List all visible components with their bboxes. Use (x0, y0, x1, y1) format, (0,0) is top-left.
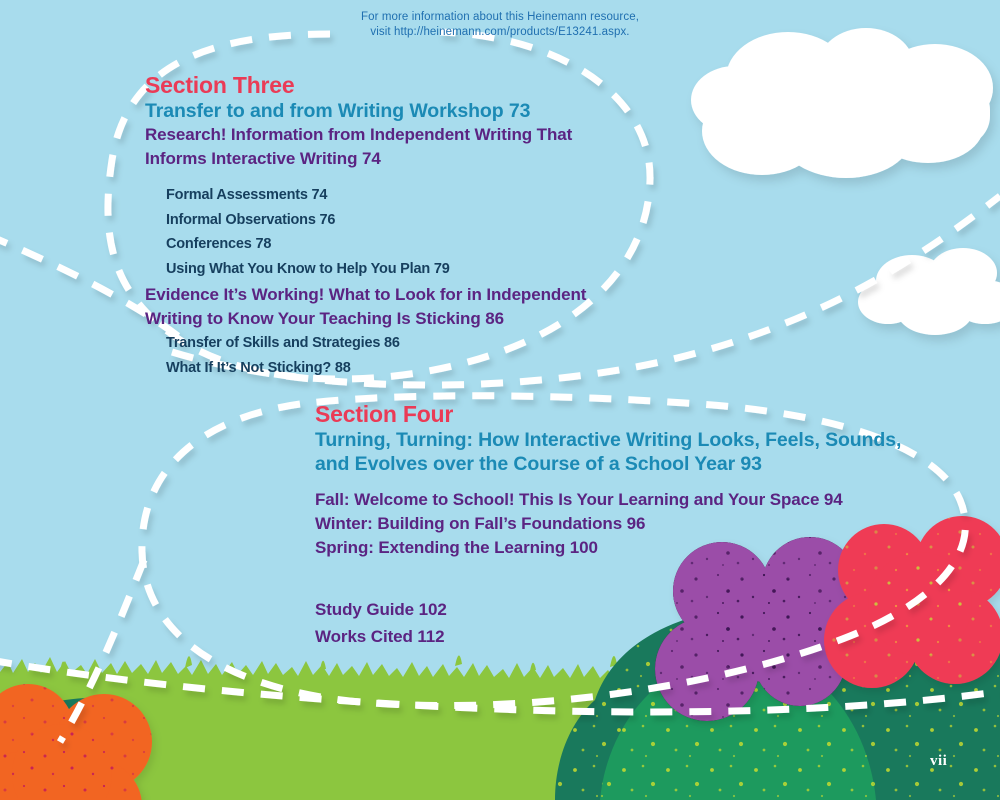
toc-entry-study-guide[interactable]: Study Guide 102 (315, 596, 715, 623)
toc-entry-evidence-line1: Evidence It’s Working! What to Look for … (145, 283, 625, 307)
toc-entry-winter[interactable]: Winter: Building on Fall’s Foundations 9… (315, 512, 955, 536)
toc-entry-research-line1: Research! Information from Independent W… (145, 123, 615, 147)
section-three-label: Section Three (145, 72, 615, 99)
section-four-title[interactable]: Turning, Turning: How Interactive Writin… (315, 428, 955, 476)
section-four-title-line2: and Evolves over the Course of a School … (315, 452, 955, 476)
back-matter-entries: Study Guide 102 Works Cited 112 (315, 596, 715, 650)
toc-entry-evidence-line2: Writing to Know Your Teaching Is Stickin… (145, 307, 625, 331)
section-four-title-line1: Turning, Turning: How Interactive Writin… (315, 428, 955, 452)
toc-subentry[interactable]: Informal Observations 76 (166, 208, 586, 233)
toc-subentry[interactable]: Transfer of Skills and Strategies 86 (166, 331, 586, 356)
toc-page: For more information about this Heineman… (0, 0, 1000, 800)
toc-entry-research[interactable]: Research! Information from Independent W… (145, 123, 615, 171)
section-three-evidence-subentries: Transfer of Skills and Strategies 86 Wha… (166, 331, 586, 380)
toc-subentry[interactable]: What If It’s Not Sticking? 88 (166, 356, 586, 381)
toc-entry-evidence[interactable]: Evidence It’s Working! What to Look for … (145, 283, 625, 331)
toc-subentry[interactable]: Conferences 78 (166, 232, 586, 257)
page-number: vii (930, 753, 947, 770)
toc-entry-research-line2: Informs Interactive Writing 74 (145, 147, 615, 171)
section-three-block: Section Three Transfer to and from Writi… (145, 72, 615, 171)
table-of-contents: Section Three Transfer to and from Writi… (0, 0, 1000, 800)
section-three-title[interactable]: Transfer to and from Writing Workshop 73 (145, 99, 615, 123)
section-four-entries: Fall: Welcome to School! This Is Your Le… (315, 488, 955, 560)
toc-subentry[interactable]: Formal Assessments 74 (166, 183, 586, 208)
toc-entry-works-cited[interactable]: Works Cited 112 (315, 623, 715, 650)
toc-entry-fall[interactable]: Fall: Welcome to School! This Is Your Le… (315, 488, 955, 512)
section-four-block: Section Four Turning, Turning: How Inter… (315, 401, 955, 476)
toc-subentry[interactable]: Using What You Know to Help You Plan 79 (166, 257, 586, 282)
section-four-label: Section Four (315, 401, 955, 428)
toc-entry-spring[interactable]: Spring: Extending the Learning 100 (315, 536, 955, 560)
section-three-subentries: Formal Assessments 74 Informal Observati… (166, 183, 586, 281)
